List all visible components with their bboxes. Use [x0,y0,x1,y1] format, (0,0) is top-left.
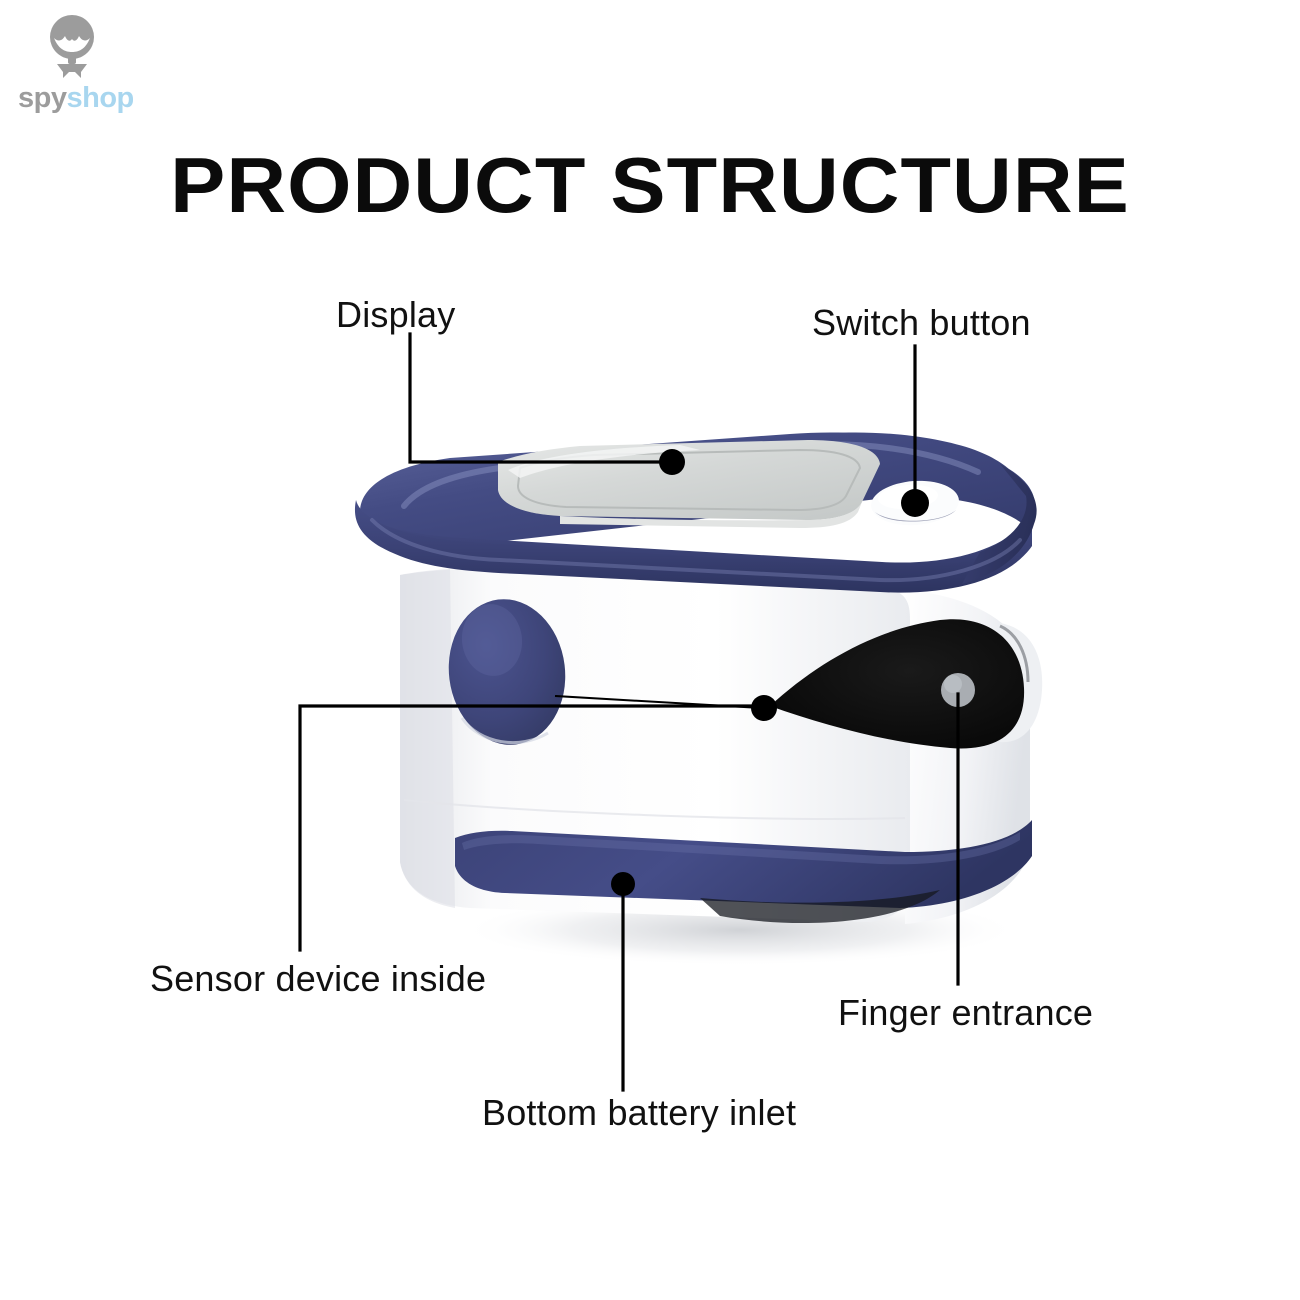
callout-label-finger-entrance: Finger entrance [838,992,1093,1034]
product-structure-diagram: spyshop PRODUCT STRUCTURE [0,0,1300,1300]
display-screen[interactable] [498,440,880,528]
callout-label-bottom-battery: Bottom battery inlet [482,1092,796,1134]
optical-sensor-highlight [944,675,962,693]
dot-marker-switch-button [901,489,929,517]
body-left-shading [400,569,455,908]
dot-marker-sensor-device [751,695,777,721]
dot-marker-display [659,449,685,475]
dot-marker-bottom-battery [611,872,635,896]
leader-line-display [410,334,668,462]
callout-label-sensor-device: Sensor device inside [150,958,486,1000]
callout-label-display: Display [336,294,455,336]
callout-label-switch-button: Switch button [812,302,1031,344]
